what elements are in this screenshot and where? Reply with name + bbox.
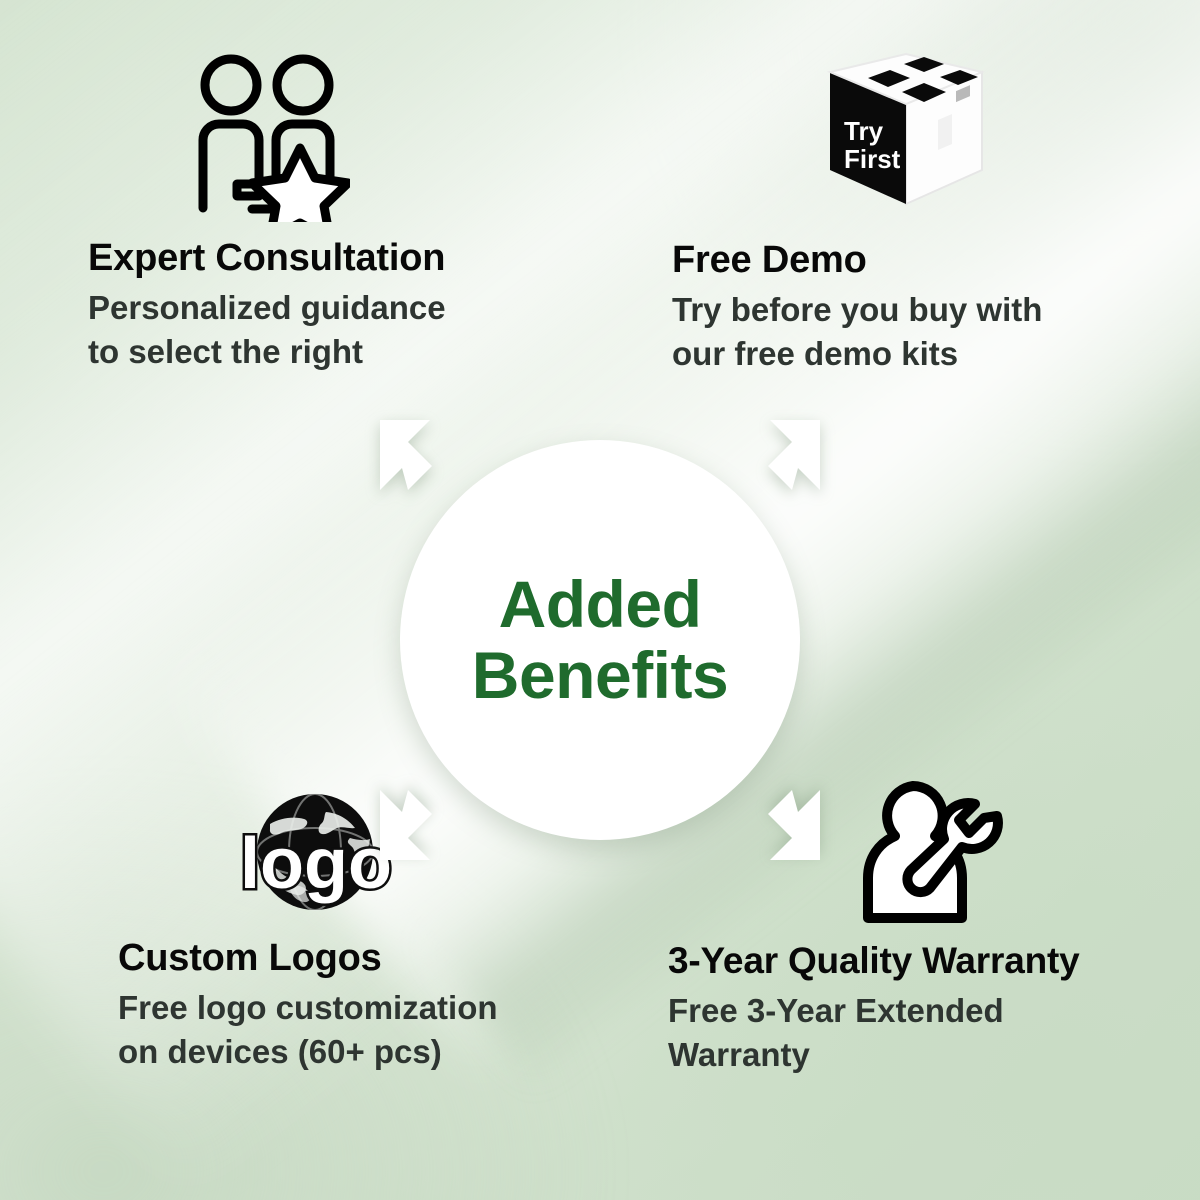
- feature-description-line: Warranty: [668, 1033, 1188, 1077]
- feature-title: 3-Year Quality Warranty: [668, 940, 1188, 983]
- feature-title: Custom Logos: [118, 936, 588, 980]
- badge-title-line1: Added: [499, 569, 702, 640]
- added-benefits-badge: Added Benefits: [378, 418, 822, 862]
- feature-description: Free 3-Year Extended Warranty: [668, 989, 1188, 1077]
- badge-title: Added Benefits: [378, 418, 822, 862]
- feature-description: Personalized guidance to select the righ…: [88, 286, 558, 374]
- box-text-line2: First: [844, 144, 901, 174]
- feature-title: Expert Consultation: [88, 236, 558, 280]
- feature-description-line: on devices (60+ pcs): [118, 1030, 588, 1074]
- feature-title: Free Demo: [672, 238, 1172, 282]
- feature-card-free-demo: Try First Free Demo Try before you buy w…: [672, 52, 1172, 376]
- feature-description-line: to select the right: [88, 330, 558, 374]
- two-people-with-star-icon: [88, 52, 558, 222]
- feature-description-line: our free demo kits: [672, 332, 1172, 376]
- infographic-canvas: Expert Consultation Personalized guidanc…: [0, 0, 1200, 1200]
- try-first-box-icon: Try First: [672, 52, 1172, 224]
- badge-title-line2: Benefits: [472, 640, 728, 711]
- feature-description-line: Try before you buy with: [672, 288, 1172, 332]
- feature-description-line: Free 3-Year Extended: [668, 989, 1188, 1033]
- feature-description: Free logo customization on devices (60+ …: [118, 986, 588, 1074]
- feature-description-line: Personalized guidance: [88, 286, 558, 330]
- box-text-line1: Try: [844, 116, 884, 146]
- feature-description: Try before you buy with our free demo ki…: [672, 288, 1172, 376]
- feature-card-expert-consultation: Expert Consultation Personalized guidanc…: [88, 52, 558, 374]
- feature-description-line: Free logo customization: [118, 986, 588, 1030]
- globe-wordmark: logo: [240, 824, 392, 904]
